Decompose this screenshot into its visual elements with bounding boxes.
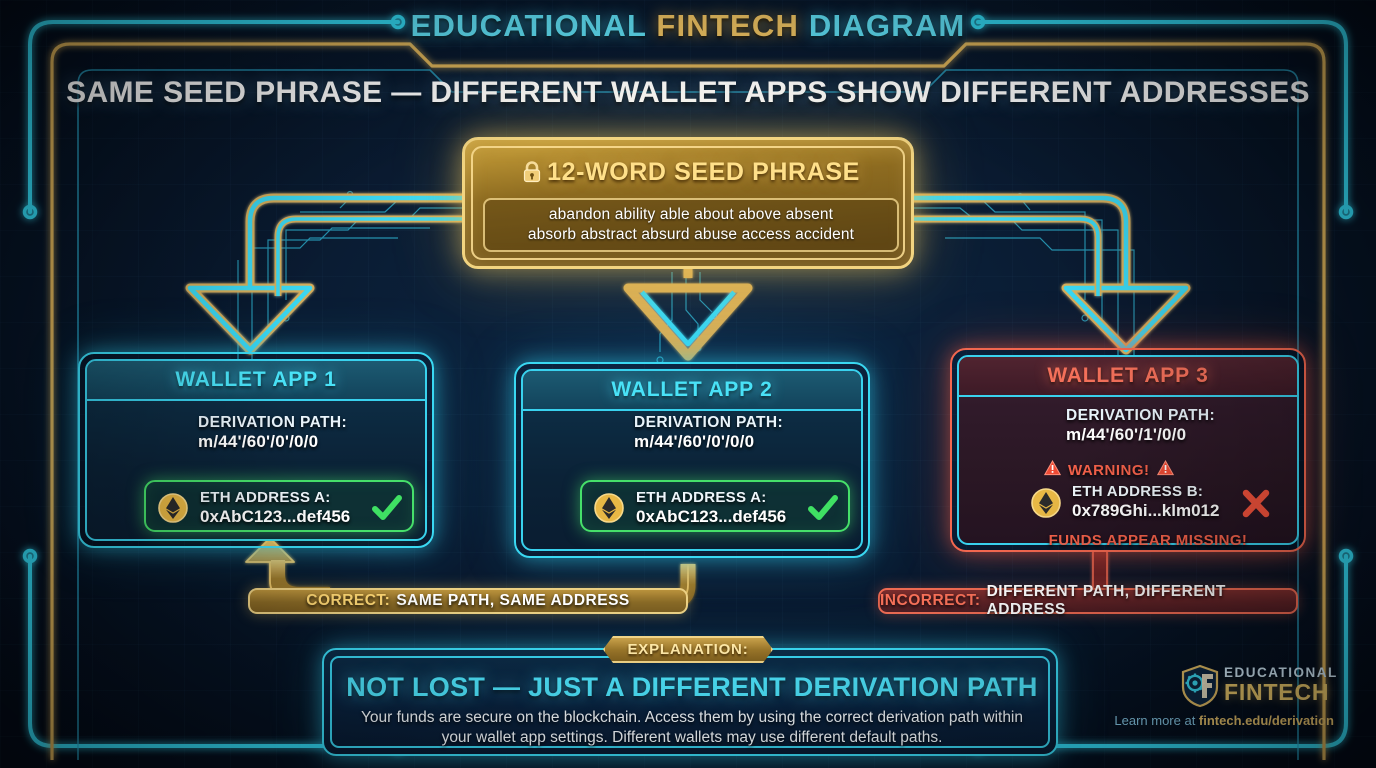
warning-triangle-icon-left xyxy=(1044,460,1061,480)
learn-more-url: fintech.edu/derivation xyxy=(1199,713,1334,728)
check-icon xyxy=(371,493,403,528)
wallet3-address-value: 0x789Ghi...klm012 xyxy=(1072,501,1219,521)
wallet3-warning-row: WARNING! xyxy=(1044,460,1174,480)
wallet3-header: WALLET APP 3 xyxy=(959,357,1297,397)
wallet3-address-box[interactable]: ETH ADDRESS B: 0x789Ghi...klm012 xyxy=(1028,480,1264,528)
wallet-app-3-card[interactable]: WALLET APP 3 DERIVATION PATH: m/44'/60'/… xyxy=(950,348,1306,552)
wallet1-address-label: ETH ADDRESS A: xyxy=(200,489,331,506)
wallet2-derivation-value: m/44'/60'/0'/0/0 xyxy=(634,432,754,452)
page-title: EDUCATIONAL FINTECH DIAGRAM xyxy=(0,8,1376,44)
page-subtitle: SAME SEED PHRASE — DIFFERENT WALLET APPS… xyxy=(0,76,1376,110)
explanation-card: NOT LOST — JUST A DIFFERENT DERIVATION P… xyxy=(322,648,1058,756)
connector-seed-to-wallet3 xyxy=(914,198,1186,350)
circuit-traces-middle xyxy=(657,272,717,363)
learn-more-prefix: Learn more at xyxy=(1114,713,1199,728)
incorrect-verdict-badge: INCORRECT: DIFFERENT PATH, DIFFERENT ADD… xyxy=(878,588,1298,614)
learn-more-link[interactable]: Learn more at fintech.edu/derivation xyxy=(1112,713,1334,728)
wallet2-title: WALLET APP 2 xyxy=(611,378,772,402)
wallet2-address-value: 0xAbC123...def456 xyxy=(636,507,786,527)
title-word-educational: EDUCATIONAL xyxy=(411,8,647,43)
seed-card-title: 12-WORD SEED PHRASE xyxy=(465,158,917,190)
wallet1-address-box[interactable]: ETH ADDRESS A: 0xAbC123...def456 xyxy=(144,480,414,532)
wallet3-title: WALLET APP 3 xyxy=(1047,364,1208,388)
wallet2-address-box[interactable]: ETH ADDRESS A: 0xAbC123...def456 xyxy=(580,480,850,532)
wallet-app-1-card[interactable]: WALLET APP 1 DERIVATION PATH: m/44'/60'/… xyxy=(78,352,434,548)
wallet2-address-label: ETH ADDRESS A: xyxy=(636,489,767,506)
connector-seed-to-wallet2 xyxy=(628,269,748,356)
seed-title-text: 12-WORD SEED PHRASE xyxy=(547,158,860,186)
seed-phrase-card: 12-WORD SEED PHRASE abandon ability able… xyxy=(462,137,914,269)
title-word-fintech: FINTECH xyxy=(656,8,799,43)
wallet3-address-label: ETH ADDRESS B: xyxy=(1072,483,1203,500)
brand-logo[interactable]: EDUCATIONAL FINTECH xyxy=(1180,664,1330,708)
correct-text: SAME PATH, SAME ADDRESS xyxy=(396,592,629,610)
brand-line-educational: EDUCATIONAL xyxy=(1224,665,1338,680)
cross-icon xyxy=(1240,488,1272,524)
explanation-body: Your funds are secure on the blockchain.… xyxy=(348,708,1036,748)
check-icon xyxy=(807,493,839,528)
diagram-canvas: EDUCATIONAL FINTECH DIAGRAM SAME SEED PH… xyxy=(0,0,1376,768)
wallet3-warning-label: WARNING! xyxy=(1068,462,1150,479)
ethereum-icon xyxy=(158,493,188,528)
wallet3-derivation-label: DERIVATION PATH: xyxy=(1066,407,1215,425)
shield-gear-icon xyxy=(1180,664,1220,713)
wallet1-header: WALLET APP 1 xyxy=(87,361,425,401)
ethereum-icon xyxy=(1031,488,1061,523)
seed-words-line-1: abandon ability able about above absent xyxy=(485,205,897,225)
explanation-badge: EXPLANATION: xyxy=(603,636,773,663)
incorrect-tag: INCORRECT: xyxy=(880,592,981,610)
wallet1-title: WALLET APP 1 xyxy=(175,368,336,392)
explanation-headline: NOT LOST — JUST A DIFFERENT DERIVATION P… xyxy=(324,672,1060,703)
wallet1-address-value: 0xAbC123...def456 xyxy=(200,507,350,527)
incorrect-text: DIFFERENT PATH, DIFFERENT ADDRESS xyxy=(987,583,1296,619)
title-word-diagram: DIAGRAM xyxy=(809,8,966,43)
correct-verdict-badge: CORRECT: SAME PATH, SAME ADDRESS xyxy=(248,588,688,614)
wallet2-derivation-label: DERIVATION PATH: xyxy=(634,414,783,432)
seed-words-line-2: absorb abstract absurd abuse access acci… xyxy=(485,225,897,245)
warning-triangle-icon-right xyxy=(1157,460,1174,480)
correct-tag: CORRECT: xyxy=(306,592,390,610)
wallet1-derivation-label: DERIVATION PATH: xyxy=(198,414,347,432)
wallet3-derivation-value: m/44'/60'/1'/0/0 xyxy=(1066,425,1186,445)
seed-word-list: abandon ability able about above absent … xyxy=(483,198,899,252)
ethereum-icon xyxy=(594,493,624,528)
wallet1-derivation-value: m/44'/60'/0'/0/0 xyxy=(198,432,318,452)
brand-line-fintech: FINTECH xyxy=(1224,679,1329,706)
wallet-app-2-card[interactable]: WALLET APP 2 DERIVATION PATH: m/44'/60'/… xyxy=(514,362,870,558)
connector-seed-to-wallet1 xyxy=(190,198,462,350)
lock-icon xyxy=(522,161,542,190)
wallet2-header: WALLET APP 2 xyxy=(523,371,861,411)
wallet3-funds-missing-label: FUNDS APPEAR MISSING! xyxy=(1028,532,1268,549)
